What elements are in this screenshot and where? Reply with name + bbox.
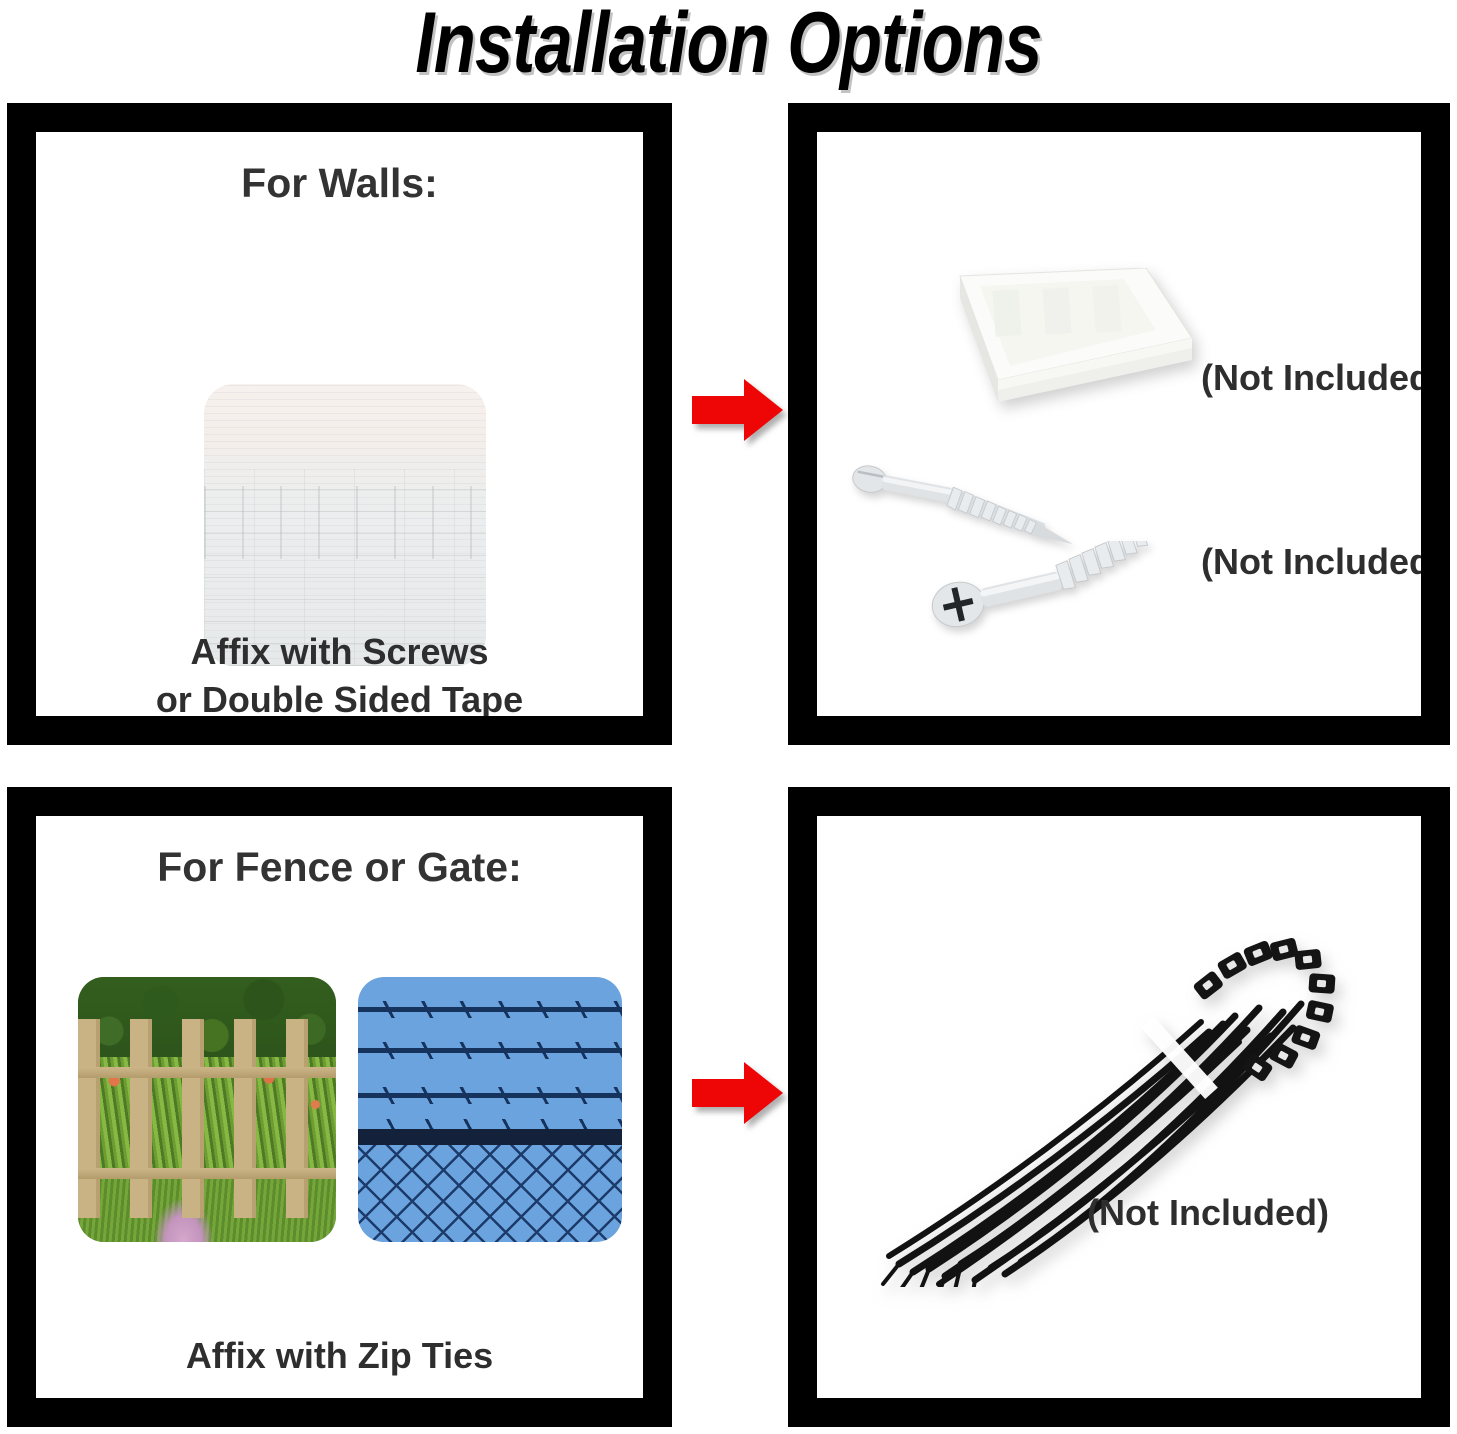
barbed-wire-barbs-4 xyxy=(358,1119,622,1129)
for-fence-heading: For Fence or Gate: xyxy=(36,844,643,891)
barbed-wire-strand-3 xyxy=(358,1093,622,1098)
for-walls-caption-line-2: or Double Sided Tape xyxy=(36,676,643,716)
tape-not-included-label: (Not Included) xyxy=(1201,357,1421,399)
red-right-arrow-icon-top xyxy=(692,379,783,441)
panel-zip-ties-content: (Not Included) xyxy=(817,816,1421,1398)
white-brick-wall-image xyxy=(204,384,486,666)
fence-rail-bottom xyxy=(78,1168,336,1179)
fence-pickets xyxy=(78,1019,336,1218)
double-sided-tape-stack-image xyxy=(894,268,1192,433)
panel-hardware: (Not Included) xyxy=(788,103,1450,745)
barbed-wire-strand-1 xyxy=(358,1007,622,1012)
picket-fence-scene xyxy=(78,977,336,1242)
barbed-wire-scene xyxy=(358,977,622,1242)
page-title: Installation Options xyxy=(146,0,1312,93)
fence-top-rail xyxy=(358,1129,622,1145)
zip-ties-not-included-label: (Not Included) xyxy=(1087,1192,1329,1234)
installation-options-infographic: Installation Options For Walls: Affix wi… xyxy=(0,0,1457,1434)
barbed-wire-strand-2 xyxy=(358,1048,622,1053)
chain-link-mesh xyxy=(358,1145,622,1242)
red-right-arrow-icon-bottom xyxy=(692,1062,783,1124)
panel-for-walls: For Walls: Affix with Screws or Double S… xyxy=(7,103,672,745)
chain-link-barbed-wire-photo xyxy=(358,977,622,1242)
panel-for-walls-content: For Walls: Affix with Screws or Double S… xyxy=(36,132,643,716)
panel-hardware-content: (Not Included) xyxy=(817,132,1421,716)
fence-rail-top xyxy=(78,1067,336,1078)
for-fence-caption: Affix with Zip Ties xyxy=(36,1332,643,1380)
wood-screw-image-2 xyxy=(924,541,1204,641)
panel-for-fence-content: For Fence or Gate: xyxy=(36,816,643,1398)
for-walls-heading: For Walls: xyxy=(36,160,643,207)
wood-screw-image-1 xyxy=(849,461,1089,547)
for-walls-caption-line-1: Affix with Screws xyxy=(36,628,643,676)
panel-for-fence-or-gate: For Fence or Gate: xyxy=(7,787,672,1427)
panel-zip-ties: (Not Included) xyxy=(788,787,1450,1427)
screws-not-included-label: (Not Included) xyxy=(1201,541,1421,583)
wooden-picket-fence-photo xyxy=(78,977,336,1242)
wall-brick-joints xyxy=(204,486,486,559)
